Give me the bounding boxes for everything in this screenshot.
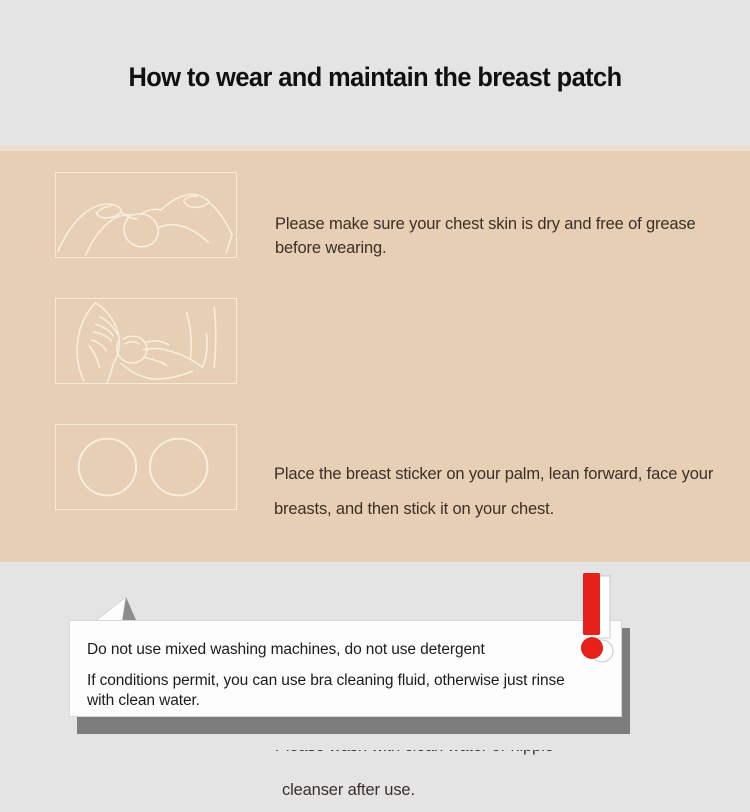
step-3-text-line-2: cleanser after use. — [275, 768, 675, 812]
header-section: How to wear and maintain the breast patc… — [0, 0, 750, 146]
step-1-text: Please make sure your chest skin is dry … — [275, 212, 700, 260]
two-hands-holding-patch-illustration — [55, 172, 237, 258]
warning-callout-tail — [92, 596, 138, 623]
warning-callout-box: Do not use mixed washing machines, do no… — [69, 620, 622, 717]
steps-section: Please make sure your chest skin is dry … — [0, 151, 750, 562]
two-patch-circles-illustration — [55, 424, 237, 510]
warning-text-line-2: If conditions permit, you can use bra cl… — [87, 671, 595, 711]
step-2-text: Place the breast sticker on your palm, l… — [274, 457, 719, 527]
infographic-page: How to wear and maintain the breast patc… — [0, 0, 750, 750]
page-title: How to wear and maintain the breast patc… — [23, 62, 728, 93]
exclamation-mark-icon — [572, 572, 624, 664]
warning-text-line-1: Do not use mixed washing machines, do no… — [87, 640, 595, 659]
hand-applying-patch-to-chest-illustration — [55, 298, 237, 384]
